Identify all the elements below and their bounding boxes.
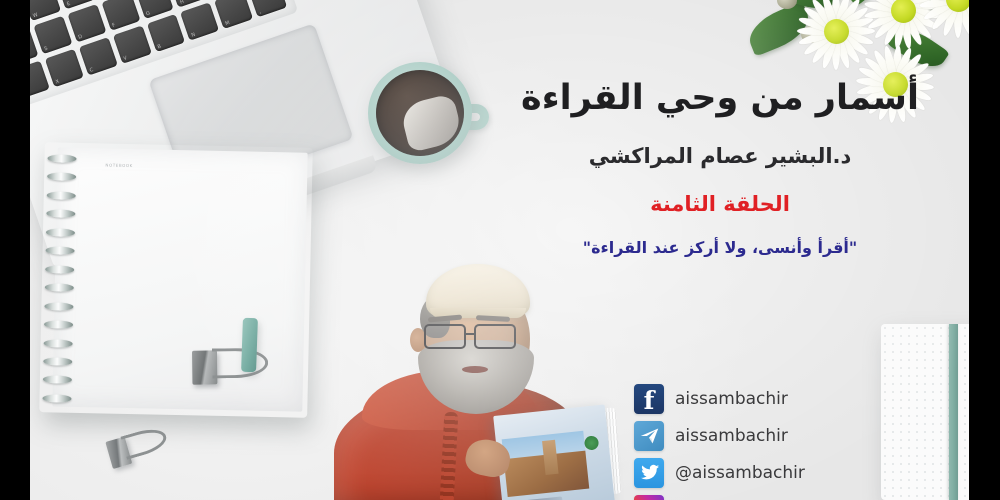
instagram-icon[interactable] <box>634 495 664 500</box>
spiral-ring <box>43 376 72 385</box>
white-kufi-cap <box>426 264 530 318</box>
photo-backdrop: ~ 1 2 3 4 5 6 7 Q W E R T Y U I A S D F <box>30 0 969 500</box>
flower-core <box>824 19 849 44</box>
lens <box>424 324 466 349</box>
spiral-ring <box>47 191 76 200</box>
keyboard-key: N <box>180 2 219 41</box>
twitter-handle[interactable]: @aissambachir <box>675 463 805 483</box>
notebook-elastic-band <box>949 324 958 500</box>
coffee-cup <box>368 62 472 164</box>
social-row-instagram[interactable]: aissambachir <box>634 491 805 500</box>
telegram-icon[interactable] <box>634 421 664 451</box>
spiral-ring <box>47 173 76 182</box>
facebook-icon[interactable]: f <box>634 384 664 414</box>
dotted-notebook <box>881 324 969 500</box>
keyboard-key: C <box>79 37 118 76</box>
person-reading-book <box>348 262 622 500</box>
spiral-ring <box>44 320 73 329</box>
clip-arm <box>212 348 268 379</box>
telegram-handle[interactable]: aissambachir <box>675 426 788 446</box>
poster-canvas: ~ 1 2 3 4 5 6 7 Q W E R T Y U I A S D F <box>0 0 1000 500</box>
keyboard-key: M <box>214 0 253 29</box>
notebook-imprint: NOTEBOOK <box>105 162 133 168</box>
spiral-ring <box>46 247 75 256</box>
spiral-ring <box>45 283 74 292</box>
mouth <box>462 366 488 373</box>
quote-text: "أقرأ وأنسى، ولا أركز عند القراءة" <box>470 238 969 257</box>
book-cover <box>493 404 615 500</box>
eyeglasses <box>420 324 534 350</box>
cup-coffee-surface <box>376 70 464 156</box>
episode-label: الحلقة الثامنة <box>470 192 969 216</box>
page-title: أسمار من وحي القراءة <box>470 78 969 118</box>
chrysanthemum-flower <box>923 0 969 34</box>
flower-core <box>891 0 916 23</box>
text-block: أسمار من وحي القراءة د.البشير عصام المرا… <box>470 78 969 257</box>
spiral-ring <box>47 154 76 163</box>
binder-clip-small <box>105 422 174 472</box>
spiral-ring <box>43 357 72 366</box>
book-cover-title <box>510 496 563 500</box>
spiral-ring <box>44 339 73 348</box>
letterbox-right <box>969 0 1000 500</box>
author-name: د.البشير عصام المراكشي <box>470 144 969 168</box>
book-publisher-logo <box>584 435 599 450</box>
book <box>493 404 615 500</box>
keyboard-key: , <box>248 0 287 17</box>
facebook-handle[interactable]: aissambachir <box>675 389 788 409</box>
twitter-icon[interactable] <box>634 458 664 488</box>
spiral-ring <box>42 394 71 403</box>
social-row-telegram[interactable]: aissambachir <box>634 417 805 454</box>
keyboard-key: V <box>112 25 151 64</box>
spiral-ring <box>46 228 75 237</box>
social-links: f aissambachir aissambachir @ <box>634 380 805 500</box>
keyboard-key: S <box>33 15 72 54</box>
spiral-ring <box>44 302 73 311</box>
clip-arm <box>120 425 169 460</box>
binder-clip-large <box>192 346 271 387</box>
notebook-spiral <box>41 154 76 403</box>
lens <box>474 324 516 349</box>
spiral-notebook: NOTEBOOK <box>39 142 313 418</box>
social-row-twitter[interactable]: @aissambachir <box>634 454 805 491</box>
keyboard-key: F <box>101 0 140 31</box>
keyboard-key: X <box>45 49 84 88</box>
teal-marker <box>241 318 258 372</box>
spiral-ring <box>45 265 74 274</box>
keyboard-key: B <box>146 14 185 53</box>
letterbox-left <box>0 0 30 500</box>
social-row-facebook[interactable]: f aissambachir <box>634 380 805 417</box>
keyboard-key: D <box>67 4 106 43</box>
spiral-ring <box>46 210 75 219</box>
